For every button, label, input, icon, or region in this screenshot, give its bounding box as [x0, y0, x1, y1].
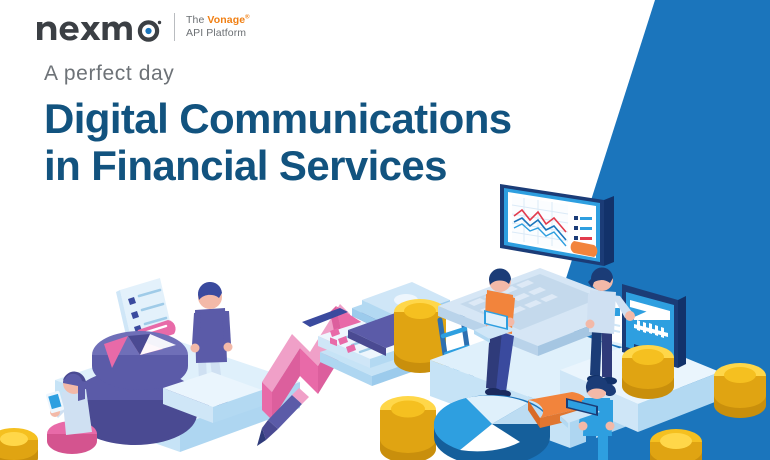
- vonage-brand-text: Vonage: [207, 14, 245, 26]
- platform-center-right: [430, 320, 680, 448]
- page-title: Digital Communications in Financial Serv…: [44, 95, 512, 189]
- bank-building-icon: [634, 310, 670, 460]
- platform-pedestal-left: [163, 372, 262, 423]
- tagline-line-1: The Vonage®: [186, 14, 250, 27]
- eyebrow-text: A perfect day: [44, 62, 174, 86]
- coin-stack-far-right: [714, 363, 766, 418]
- coin-stack-center: [394, 299, 446, 373]
- brand-logo[interactable]: The Vonage® API Platform: [36, 12, 250, 42]
- platform-right: [560, 340, 720, 432]
- person-standing-at-phone: [586, 267, 636, 385]
- small-laptop-icon: [474, 310, 516, 343]
- person-seated-with-phone: [46, 372, 97, 454]
- laptop-cta-button: [571, 241, 598, 257]
- coin-stack-lower-center: [380, 396, 436, 460]
- person-standing-with-laptop: [560, 376, 616, 460]
- coin-stack-bottom-left: [0, 428, 38, 460]
- poster-canvas: The Vonage® API Platform A perfect day D…: [0, 0, 770, 460]
- pencil: [257, 388, 309, 446]
- pie-chart-blue-orange: [434, 392, 587, 460]
- coin-stack-right: [622, 345, 674, 399]
- vonage-registered-mark: ®: [245, 15, 250, 21]
- pink-action-pill: [136, 320, 175, 344]
- coin-stack-bottom-right: [650, 429, 702, 460]
- headline-line-1: Digital Communications: [44, 95, 512, 142]
- tagline-line-2: API Platform: [186, 27, 250, 40]
- banknote-stack: [348, 282, 450, 356]
- laptop-sidebar-rows: [574, 216, 592, 250]
- document-stack: [302, 308, 440, 386]
- ladder: [440, 312, 474, 402]
- smartphone-banking: [596, 284, 686, 460]
- pie-slice-orange: [528, 392, 587, 428]
- nexmo-o-dot-icon: [137, 12, 163, 42]
- person-standing-left: [191, 282, 233, 407]
- logo-divider: [174, 13, 175, 41]
- brand-tagline: The Vonage® API Platform: [186, 14, 250, 40]
- held-smartphone-icon: [46, 390, 65, 413]
- pie-chart-purple: [73, 331, 197, 445]
- person-seated-laptop-orange: [474, 268, 516, 398]
- platform-left: [55, 340, 300, 452]
- held-laptop-icon: [560, 398, 600, 428]
- growth-arrow-pink: [262, 304, 374, 420]
- checklist-card: [116, 278, 176, 344]
- headline-line-2: in Financial Services: [44, 142, 512, 189]
- laptop-large: [438, 184, 640, 356]
- nexmo-wordmark-icon: [36, 12, 132, 42]
